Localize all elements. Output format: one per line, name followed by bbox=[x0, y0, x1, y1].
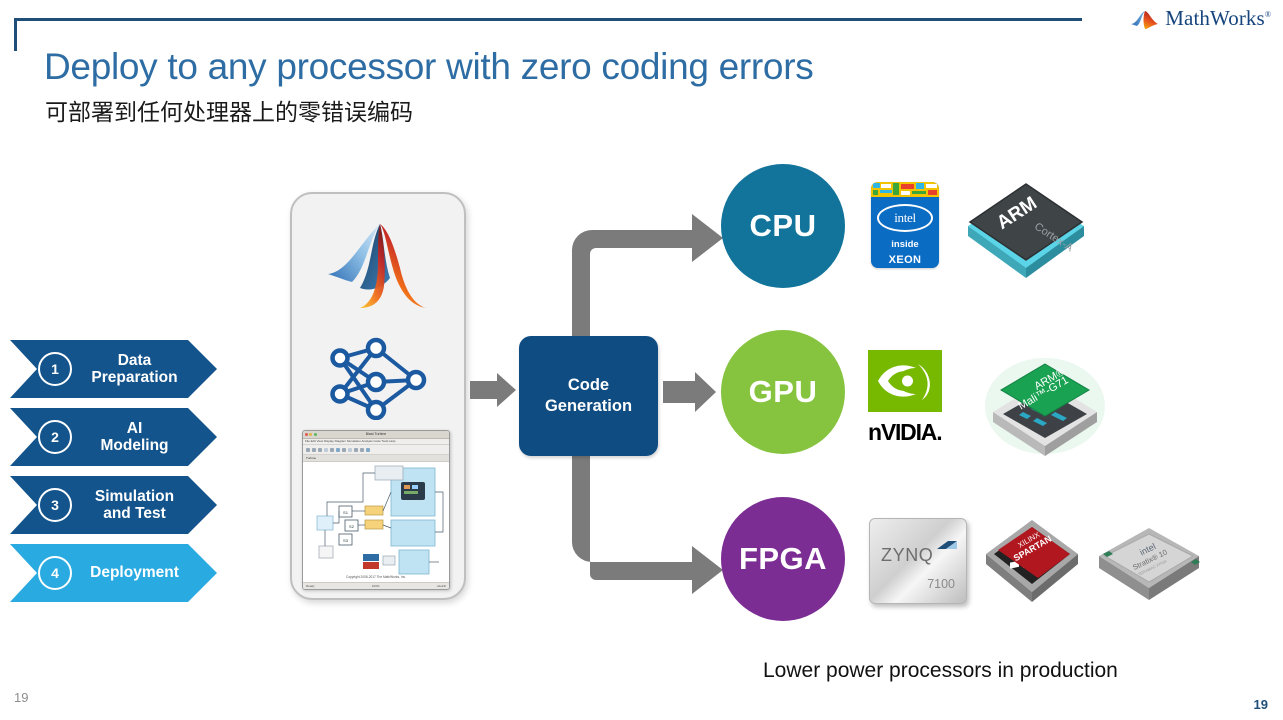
step-number-badge: 1 bbox=[38, 352, 72, 386]
simulink-block-diagram: S1S2S3 bbox=[303, 462, 449, 584]
intel-circuit-pattern bbox=[871, 182, 939, 197]
arm-mali-g71-chip: ARM® Mali™-G71 bbox=[982, 340, 1108, 460]
nvidia-eye-icon bbox=[868, 350, 942, 412]
svg-text:Copyright 2008-2017 The MathWo: Copyright 2008-2017 The MathWorks, Inc. bbox=[346, 575, 406, 579]
simulink-canvas: S1S2S3 bbox=[303, 462, 449, 584]
intel-inside-label: inside bbox=[891, 239, 918, 250]
xilinx-spartan-chip: XILINX SPARTAN bbox=[976, 504, 1088, 616]
step-label: AI Modeling bbox=[72, 420, 217, 455]
simulink-breadcrumb: Turbine bbox=[303, 455, 449, 462]
status-solver: ode23t bbox=[437, 583, 446, 589]
workflow-step-data-preparation[interactable]: 1 Data Preparation bbox=[10, 340, 217, 398]
step-label: Simulation and Test bbox=[72, 488, 217, 523]
simulink-window-title: Blast Turbine bbox=[366, 432, 386, 436]
workflow-step-deployment[interactable]: 4 Deployment bbox=[10, 544, 217, 602]
target-circle-fpga[interactable]: FPGA bbox=[721, 497, 845, 621]
xilinx-zynq-mark-icon bbox=[937, 539, 957, 553]
simulink-toolbar bbox=[303, 445, 449, 455]
workflow-step-simulation-and-test[interactable]: 3 Simulation and Test bbox=[10, 476, 217, 534]
target-label-gpu: GPU bbox=[749, 374, 818, 410]
simulink-statusbar: Ready 100% ode23t bbox=[303, 582, 449, 589]
simulink-titlebar: Blast Turbine bbox=[303, 431, 449, 439]
arrow-to-cpu bbox=[572, 214, 723, 336]
arrow-to-fpga bbox=[572, 456, 723, 594]
target-circle-cpu[interactable]: CPU bbox=[721, 164, 845, 288]
zynq-brand-text: ZYNQ bbox=[881, 545, 933, 566]
workflow-step-ai-modeling[interactable]: 2 AI Modeling bbox=[10, 408, 217, 466]
target-label-cpu: CPU bbox=[750, 208, 817, 244]
page-number-right: 19 bbox=[1254, 697, 1268, 712]
status-ready: Ready bbox=[306, 583, 315, 589]
svg-text:S3: S3 bbox=[343, 538, 349, 543]
step-number-badge: 4 bbox=[38, 556, 72, 590]
status-zoom: 100% bbox=[372, 583, 380, 589]
mathworks-membrane-logo bbox=[1131, 8, 1159, 30]
page-title: Deploy to any processor with zero coding… bbox=[44, 46, 813, 88]
code-generation-label: Code Generation bbox=[545, 375, 632, 416]
page-number-left: 19 bbox=[14, 690, 28, 705]
arm-cortex-a-chip: ARM Cortex-A bbox=[962, 176, 1090, 286]
mathworks-logo: MathWorks® bbox=[1131, 6, 1271, 31]
nvidia-logo: nVIDIA. bbox=[868, 350, 974, 446]
target-circle-gpu[interactable]: GPU bbox=[721, 330, 845, 454]
intel-wordmark: intel bbox=[877, 204, 933, 232]
mathworks-wordmark: MathWorks® bbox=[1165, 6, 1271, 31]
svg-text:S1: S1 bbox=[343, 510, 349, 515]
matlab-simulink-device-mock: Blast Turbine File Edit View Display Dia… bbox=[290, 192, 466, 600]
window-controls bbox=[305, 433, 317, 436]
xilinx-zynq-chip: ZYNQ 7100 bbox=[869, 518, 967, 604]
intel-stratix-10-chip: intel Stratix® 10 TERAMAC FPGA bbox=[1090, 508, 1208, 612]
svg-text:S2: S2 bbox=[349, 524, 355, 529]
matlab-membrane-logo bbox=[326, 218, 430, 312]
simulink-model-window: Blast Turbine File Edit View Display Dia… bbox=[302, 430, 450, 590]
zynq-model-text: 7100 bbox=[927, 577, 955, 591]
footer-caption: Lower power processors in production bbox=[763, 659, 1118, 683]
slide-root: MathWorks® Deploy to any processor with … bbox=[0, 0, 1283, 720]
arrow-to-gpu bbox=[663, 372, 716, 412]
step-label: Deployment bbox=[72, 564, 217, 581]
code-generation-box[interactable]: Code Generation bbox=[519, 336, 658, 456]
intel-xeon-badge: intel inside XEON bbox=[871, 182, 939, 268]
step-number-badge: 2 bbox=[38, 420, 72, 454]
target-label-fpga: FPGA bbox=[739, 541, 827, 577]
step-label: Data Preparation bbox=[72, 352, 217, 387]
page-subtitle: 可部署到任何处理器上的零错误编码 bbox=[45, 93, 413, 127]
nvidia-wordmark: nVIDIA. bbox=[868, 419, 974, 446]
intel-xeon-label: XEON bbox=[889, 254, 922, 266]
step-number-badge: 3 bbox=[38, 488, 72, 522]
neural-network-icon bbox=[324, 334, 432, 420]
arrow-device-to-codegen bbox=[470, 373, 516, 407]
